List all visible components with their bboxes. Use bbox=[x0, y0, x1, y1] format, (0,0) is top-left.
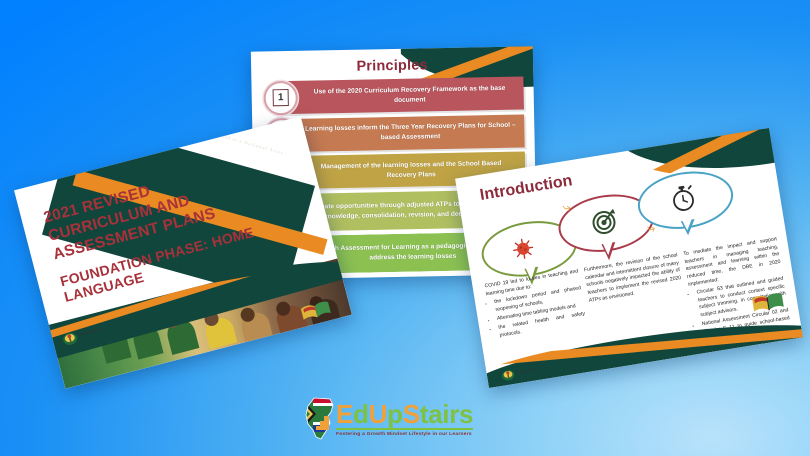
speech-bubble-tail-fill bbox=[681, 217, 694, 231]
virus-icon bbox=[509, 235, 537, 263]
department-label: Basic Education bbox=[79, 328, 102, 337]
principle-text: Use of the 2020 Curriculum Recovery Fram… bbox=[281, 77, 524, 115]
principle-item[interactable]: 1 Use of the 2020 Curriculum Recovery Fr… bbox=[263, 77, 524, 115]
logo-text-block: EdUpStairs Fostering a Growth Mindset Li… bbox=[336, 401, 473, 437]
stopwatch-icon bbox=[667, 181, 699, 215]
slide-title[interactable]: Every child is a National Asset 2021 REV… bbox=[14, 116, 352, 389]
target-icon bbox=[588, 205, 620, 237]
speech-bubble-tail-fill bbox=[602, 240, 615, 256]
logo-tagline: Fostering a Growth Mindset Lifestyle in … bbox=[336, 432, 473, 437]
logo-wordmark: EdUpStairs bbox=[336, 401, 473, 427]
page-background: Principles 1 Use of the 2020 Curriculum … bbox=[0, 0, 810, 456]
south-africa-map-flag-icon bbox=[300, 396, 340, 442]
principle-text: Learning losses inform the Three Year Re… bbox=[282, 114, 525, 152]
edupstairs-logo[interactable]: EdUpStairs Fostering a Growth Mindset Li… bbox=[300, 392, 516, 446]
speech-bubble-tail-fill bbox=[525, 265, 538, 281]
department-label: Basic Education bbox=[517, 369, 537, 375]
